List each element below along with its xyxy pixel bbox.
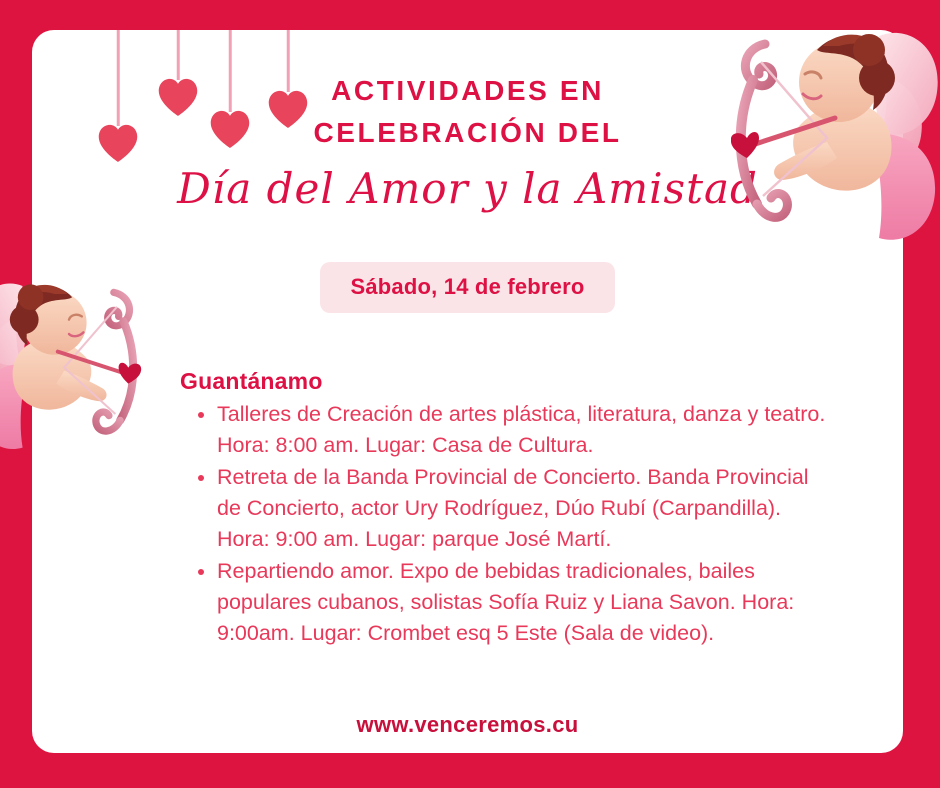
- activities-list: Talleres de Creación de artes plástica, …: [180, 399, 833, 649]
- cupid-icon: [731, 6, 940, 256]
- activity-item: Repartiendo amor. Expo de bebidas tradic…: [180, 556, 833, 649]
- valentines-poster: ACTIVIDADES EN CELEBRACIÓN DEL Día del A…: [0, 0, 940, 788]
- activity-item: Retreta de la Banda Provincial de Concie…: [180, 462, 833, 555]
- activities-section: Guantánamo Talleres de Creación de artes…: [180, 368, 833, 650]
- date-badge-container: Sábado, 14 de febrero: [32, 262, 903, 313]
- cupid-icon: [0, 262, 144, 462]
- website-footer: www.venceremos.cu: [32, 712, 903, 738]
- date-badge: Sábado, 14 de febrero: [320, 262, 614, 313]
- city-heading: Guantánamo: [180, 368, 833, 395]
- activity-item: Talleres de Creación de artes plástica, …: [180, 399, 833, 461]
